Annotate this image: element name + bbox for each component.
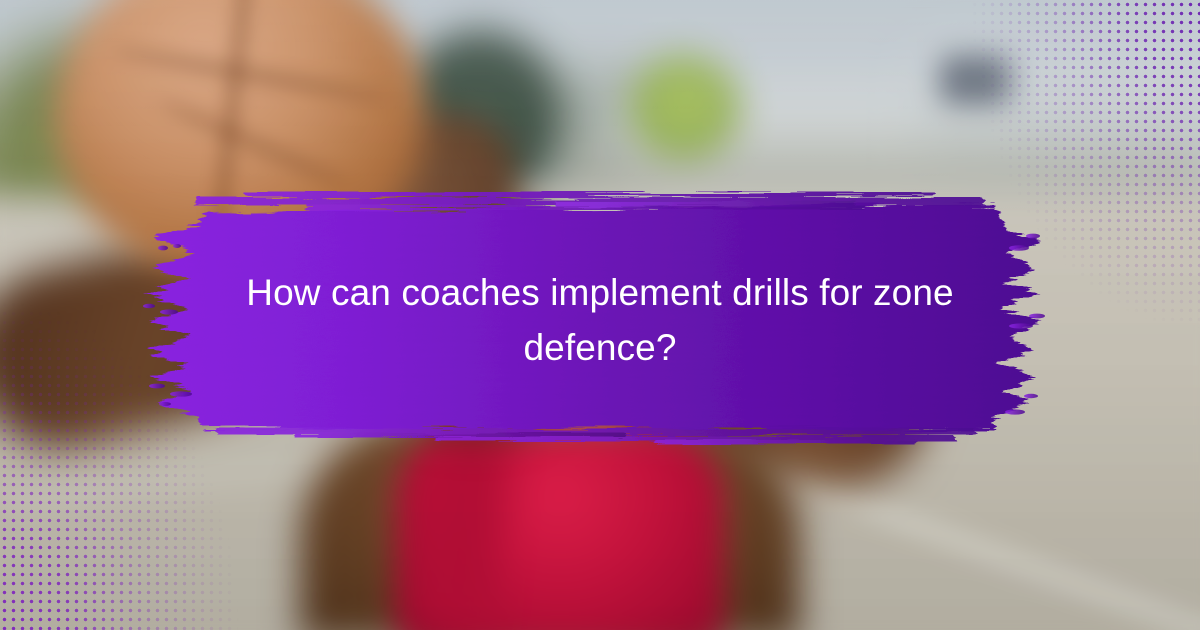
social-share-card: How can coaches implement drills for zon… xyxy=(0,0,1200,630)
page-title: How can coaches implement drills for zon… xyxy=(190,265,1010,375)
